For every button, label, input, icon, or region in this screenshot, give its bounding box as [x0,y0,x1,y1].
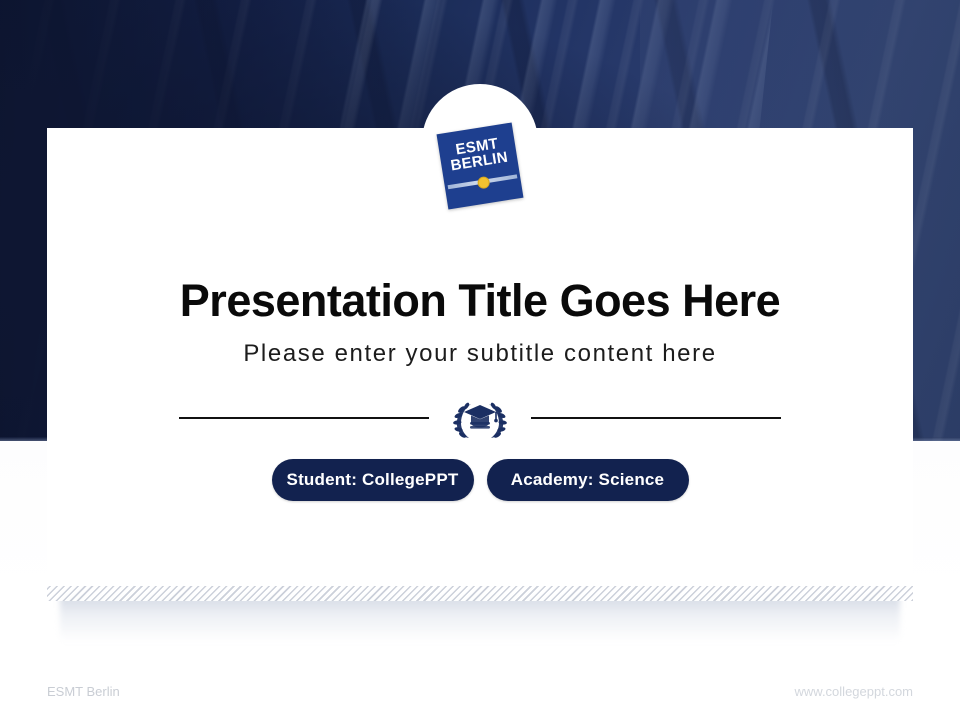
card-shadow [60,596,900,642]
footer-website: www.collegeppt.com [795,684,914,699]
badge-student[interactable]: Student: CollegePPT [272,459,474,501]
slide-canvas: ESMT BERLIN Presentation Title Goes Here… [0,0,960,720]
divider [47,396,913,440]
esmt-berlin-logo: ESMT BERLIN [434,120,526,212]
graduation-cap-laurel-icon [451,396,509,440]
badge-row: Student: CollegePPT Academy: Science [47,459,913,501]
logo-content: ESMT BERLIN [437,123,524,210]
badge-academy[interactable]: Academy: Science [487,459,689,501]
logo-wordmark: ESMT BERLIN [438,133,518,175]
card-stripe-band [47,586,913,601]
divider-rule-left [179,417,429,419]
presentation-subtitle: Please enter your subtitle content here [47,340,913,368]
divider-rule-right [531,417,781,419]
footer-brand: ESMT Berlin [47,684,120,699]
presentation-title: Presentation Title Goes Here [47,275,913,327]
